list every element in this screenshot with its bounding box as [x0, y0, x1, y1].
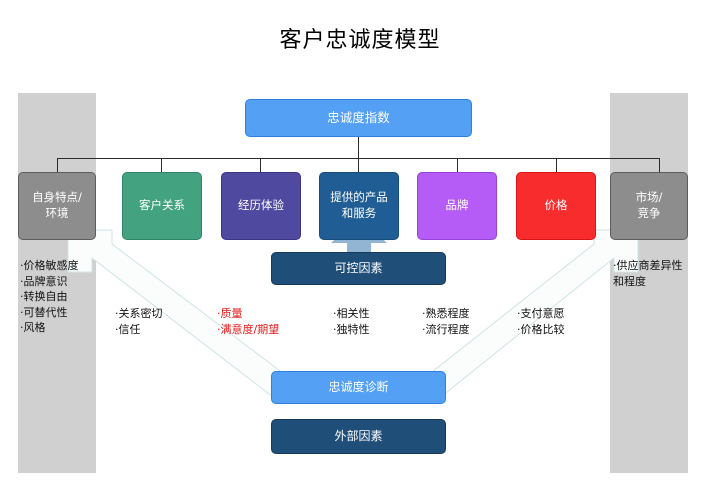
node-external-factors[interactable]: 外部因素	[271, 419, 446, 454]
bullets-market-competition: ·供应商差异性和程度	[613, 258, 687, 289]
node-controllable-factors-label: 可控因素	[331, 260, 385, 276]
node-loyalty-diagnosis-label: 忠诚度诊断	[325, 379, 391, 395]
node-customer-relationship-label: 客户关系	[136, 198, 188, 214]
bullets-self-traits: ·价格敏感度 ·品牌意识 ·转换自由 ·可替代性 ·风格	[20, 258, 96, 336]
page-title: 客户忠诚度模型	[0, 22, 720, 54]
connector-drop-relation	[161, 158, 162, 172]
bullet-item: ·可替代性	[20, 305, 96, 321]
node-loyalty-index[interactable]: 忠诚度指数	[245, 99, 472, 137]
bullet-item: ·风格	[20, 320, 96, 336]
bullets-customer-relationship: ·关系密切 ·信任	[115, 306, 163, 337]
bullet-item: ·流行程度	[422, 322, 470, 338]
bullet-item: ·价格敏感度	[20, 258, 96, 274]
connector-drop-experience	[260, 158, 261, 172]
node-external-factors-label: 外部因素	[331, 428, 385, 444]
bullet-item: ·质量	[217, 306, 279, 322]
bullet-item: ·相关性	[333, 306, 370, 322]
bullet-item: ·关系密切	[115, 306, 163, 322]
connector-drop-self	[57, 158, 58, 172]
node-customer-relationship[interactable]: 客户关系	[122, 172, 202, 240]
node-experience-label: 经历体验	[235, 198, 287, 214]
node-price-label: 价格	[542, 198, 571, 214]
bullets-price: ·支付意愿 ·价格比较	[517, 306, 565, 337]
node-brand[interactable]: 品牌	[417, 172, 497, 240]
bullet-item: ·支付意愿	[517, 306, 565, 322]
connector-index-stem	[358, 137, 359, 159]
bullet-item: ·熟悉程度	[422, 306, 470, 322]
bullet-item: ·价格比较	[517, 322, 565, 338]
node-loyalty-diagnosis[interactable]: 忠诚度诊断	[271, 371, 446, 404]
bullet-item: ·满意度/期望	[217, 322, 279, 338]
bullet-item: ·信任	[115, 322, 163, 338]
node-experience[interactable]: 经历体验	[221, 172, 301, 240]
bullet-item: ·供应商差异性和程度	[613, 258, 687, 289]
diagram-canvas: 客户忠诚度模型 忠诚度指数 自身特点/ 环境 客户关系 经历体验 提供的产品 和…	[0, 0, 720, 483]
bullet-item: ·转换自由	[20, 289, 96, 305]
connector-drop-price	[556, 158, 557, 172]
bullet-item: ·品牌意识	[20, 274, 96, 290]
bullets-brand: ·熟悉程度 ·流行程度	[422, 306, 470, 337]
connector-drop-market	[659, 158, 660, 172]
bullets-quality: ·质量 ·满意度/期望	[217, 306, 279, 337]
node-self-traits-label: 自身特点/ 环境	[29, 190, 85, 221]
node-brand-label: 品牌	[443, 198, 472, 214]
bullets-products-services: ·相关性 ·独特性	[333, 306, 370, 337]
node-products-services-label: 提供的产品 和服务	[327, 190, 391, 221]
node-controllable-factors[interactable]: 可控因素	[271, 252, 446, 285]
bullet-item: ·独特性	[333, 322, 370, 338]
node-loyalty-index-label: 忠诚度指数	[324, 110, 393, 127]
node-price[interactable]: 价格	[516, 172, 596, 240]
node-products-services[interactable]: 提供的产品 和服务	[319, 172, 399, 240]
node-market-competition[interactable]: 市场/ 竞争	[610, 172, 688, 240]
node-self-traits[interactable]: 自身特点/ 环境	[18, 172, 96, 240]
connector-drop-brand	[457, 158, 458, 172]
connector-drop-product	[358, 158, 359, 172]
node-market-competition-label: 市场/ 竞争	[633, 190, 666, 221]
